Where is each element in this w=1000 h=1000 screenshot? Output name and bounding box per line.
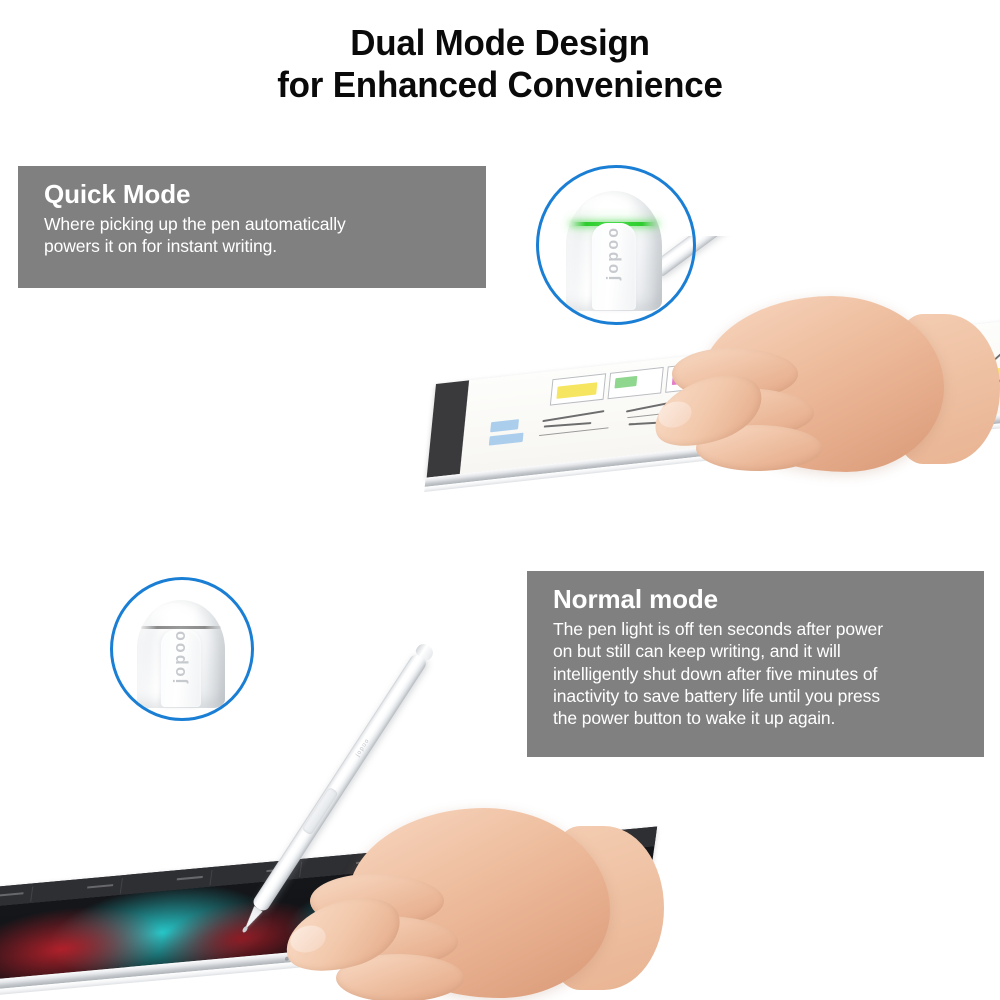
- info-panel-quick-mode: Quick Mode Where picking up the pen auto…: [18, 166, 486, 288]
- hand-bottom: [244, 778, 644, 1000]
- callout-ring-on: [536, 165, 696, 325]
- callout-normal-mode-led-off: jopoo: [110, 577, 254, 721]
- page-title-line-1: Dual Mode Design: [350, 22, 650, 63]
- info-panel-normal-mode: Normal mode The pen light is off ten sec…: [527, 571, 984, 757]
- product-feature-image: Dual Mode Design for Enhanced Convenienc…: [0, 0, 1000, 1000]
- quick-mode-title: Quick Mode: [44, 180, 466, 209]
- callout-quick-mode-led-on: jopoo: [536, 165, 696, 325]
- normal-mode-title: Normal mode: [553, 585, 964, 614]
- photo-quick-mode-scene: jopoo: [418, 236, 1000, 506]
- page-title: Dual Mode Design for Enhanced Convenienc…: [15, 22, 985, 106]
- normal-mode-body: The pen light is off ten seconds after p…: [553, 618, 964, 729]
- page-title-line-2: for Enhanced Convenience: [15, 64, 985, 106]
- quick-mode-body: Where picking up the pen automatically p…: [44, 213, 466, 257]
- callout-ring-off: [110, 577, 254, 721]
